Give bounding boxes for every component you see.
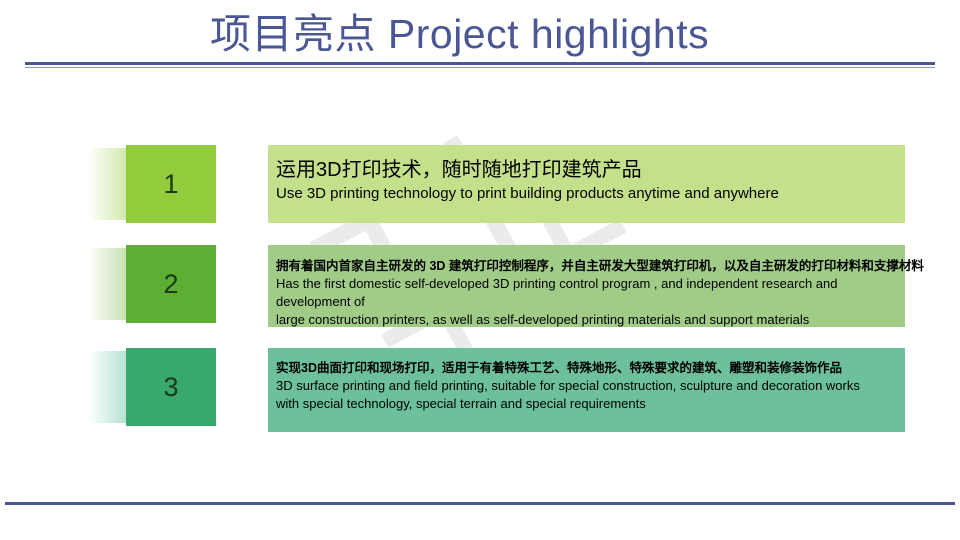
badge-square-1: 1 (126, 145, 216, 223)
highlight-text-en-2a: Has the first domestic self-developed 3D… (276, 275, 895, 311)
highlight-text-en-3a: 3D surface printing and field printing, … (276, 377, 895, 395)
badge-number-3: 3 (163, 374, 178, 401)
badge-square-2: 2 (126, 245, 216, 323)
badge-square-3: 3 (126, 348, 216, 426)
highlight-text-cn-2: 拥有着国内首家自主研发的 3D 建筑打印控制程序，并自主研发大型建筑打印机，以及… (276, 257, 895, 275)
slide-header: 项目亮点 Project highlights (0, 0, 960, 72)
footer-divider (5, 502, 955, 505)
header-divider-thick (25, 62, 935, 65)
highlight-panel-1: 运用3D打印技术，随时随地打印建筑产品 Use 3D printing tech… (268, 145, 905, 223)
highlight-panel-2: 拥有着国内首家自主研发的 3D 建筑打印控制程序，并自主研发大型建筑打印机，以及… (268, 245, 905, 327)
highlight-text-en-1a: Use 3D printing technology to print buil… (276, 183, 891, 205)
header-divider-thin (25, 67, 935, 68)
highlight-panel-3: 实现3D曲面打印和现场打印，适用于有着特殊工艺、特殊地形、特殊要求的建筑、雕塑和… (268, 348, 905, 432)
highlight-text-en-3b: with special technology, special terrain… (276, 395, 895, 413)
badge-number-1: 1 (163, 171, 178, 198)
highlight-text-cn-3: 实现3D曲面打印和现场打印，适用于有着特殊工艺、特殊地形、特殊要求的建筑、雕塑和… (276, 359, 895, 377)
badge-number-2: 2 (163, 271, 178, 298)
highlight-text-cn-1: 运用3D打印技术，随时随地打印建筑产品 (276, 157, 891, 183)
page-title: 项目亮点 Project highlights (210, 8, 709, 60)
highlight-text-en-2b: large construction printers, as well as … (276, 311, 895, 329)
